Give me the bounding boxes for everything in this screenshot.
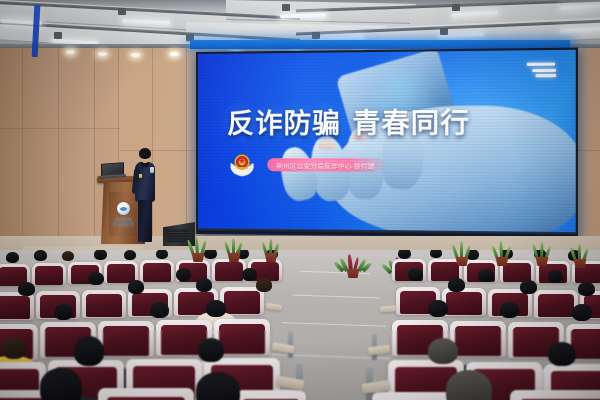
audience-head: [478, 269, 494, 282]
audience-head: [124, 250, 136, 260]
plant-pot: [534, 257, 550, 266]
seat-armrest-tablet[interactable]: [368, 345, 391, 356]
audience-head: [242, 268, 257, 281]
potted-plant: [452, 242, 472, 266]
institution-seal-logo-icon: [117, 202, 130, 215]
auditorium-seat[interactable]: [212, 259, 246, 281]
ceiling-mount-clip: [440, 28, 448, 35]
audience-head: [428, 300, 448, 317]
officer-chest-badge-icon: [139, 174, 142, 178]
audience-head: [196, 278, 212, 292]
auditorium-seat[interactable]: [140, 260, 174, 282]
presenter-police-officer: [133, 148, 157, 244]
audience-head: [150, 302, 169, 318]
potted-plant: [570, 244, 590, 268]
plant-leaf: [578, 244, 581, 261]
plant-leaf: [460, 241, 463, 259]
screen-headline: 反诈防骗青春同行: [227, 101, 470, 141]
ceiling-mount-clip: [312, 32, 320, 39]
audience-head: [572, 304, 592, 321]
audience-head-foreground: [446, 370, 492, 400]
seat-back-pad: [538, 294, 574, 318]
china-police-badge-icon: [229, 153, 255, 177]
presenter-credit-pill: 荆州区公安分局反诈中心 徐付瑞: [267, 158, 384, 172]
auditorium-seat[interactable]: [98, 321, 154, 357]
seat-armrest-tablet[interactable]: [380, 305, 396, 312]
plant-pot: [345, 269, 361, 278]
audience-head: [548, 270, 563, 283]
three-bars-motif-icon: [527, 63, 556, 80]
audience-head: [6, 252, 19, 263]
seat-back-pad: [455, 326, 501, 356]
ceiling-panel: [226, 0, 416, 24]
seat-back-pad: [224, 291, 260, 315]
potted-plant: [224, 238, 244, 262]
auditorium-seat[interactable]: [82, 290, 126, 318]
seat-armrest-tablet[interactable]: [266, 303, 283, 311]
potted-plant-bromeliad: [338, 246, 368, 278]
auditorium-seat[interactable]: [442, 288, 486, 316]
officer-shoulder-patch: [150, 167, 154, 173]
officer-hair-fringe: [140, 152, 151, 157]
audience-head: [578, 282, 595, 296]
seat-back-pad: [103, 326, 149, 356]
potted-plant: [532, 242, 552, 266]
auditorium-seat[interactable]: [220, 287, 264, 315]
seat-back-pad: [86, 294, 122, 318]
audience-head-foreground: [40, 368, 82, 400]
plant-pot: [572, 259, 588, 268]
audience-head: [54, 304, 73, 320]
plant-pot: [454, 257, 470, 266]
plant-leaf: [269, 239, 273, 255]
audience-head: [408, 268, 423, 281]
seat-back-pad: [446, 292, 482, 316]
audience-seating-area: [0, 250, 600, 400]
recessed-downlight: [98, 52, 107, 56]
floor-tile-line: [282, 322, 386, 327]
seat-back-pad: [215, 262, 243, 280]
seat-back-pad: [107, 264, 135, 282]
auditorium-seat-foreground[interactable]: [98, 388, 194, 400]
auditorium-seat[interactable]: [0, 292, 34, 320]
auditorium-photo: 反诈防骗青春同行 荆州区公安分局反诈中心 徐付瑞: [0, 0, 600, 400]
seat-back-pad: [35, 266, 63, 284]
presenter-laptop: [101, 163, 124, 178]
recessed-downlight: [131, 53, 140, 57]
plant-leaf: [540, 242, 544, 259]
ceiling-mount-clip: [282, 4, 290, 11]
seat-back-pad: [219, 324, 265, 354]
audience-head: [74, 336, 104, 366]
audience-head: [34, 250, 47, 261]
potted-plant: [262, 240, 280, 262]
recessed-downlight: [170, 52, 179, 56]
audience-head: [128, 280, 144, 294]
wall-seam: [22, 30, 23, 258]
auditorium-seat-foreground[interactable]: [510, 390, 600, 400]
audience-head: [88, 272, 104, 285]
audience-head: [520, 280, 537, 294]
audience-head: [198, 338, 224, 362]
plant-leaf: [499, 241, 503, 259]
auditorium-seat[interactable]: [32, 263, 66, 285]
ceiling-mount-clip: [118, 8, 126, 15]
wall-seam: [0, 128, 120, 129]
audience-head: [500, 302, 519, 318]
plant-pot: [494, 257, 510, 266]
auditorium-seat-foreground[interactable]: [236, 390, 306, 400]
ceiling-mount-clip: [452, 4, 460, 11]
wall-seam: [58, 30, 59, 258]
plant-leaf: [195, 236, 199, 255]
audience-head: [2, 338, 26, 359]
led-presentation-screen: 反诈防骗青春同行 荆州区公安分局反诈中心 徐付瑞: [196, 48, 578, 239]
potted-plant: [492, 242, 512, 266]
floor-tile-line: [292, 294, 380, 298]
audience-head: [398, 250, 411, 259]
plant-pot: [226, 253, 242, 262]
audience-head: [94, 250, 107, 260]
audience-head: [156, 250, 168, 259]
audience-head: [428, 338, 458, 364]
headline-part-1: 反诈防骗: [227, 108, 341, 139]
audience-head-foreground: [196, 372, 240, 400]
officer-legs: [138, 200, 152, 242]
plant-pot: [263, 253, 279, 262]
audience-head: [176, 268, 191, 281]
recessed-downlight: [66, 50, 75, 54]
potted-plant: [188, 236, 208, 262]
audience-head: [430, 250, 442, 258]
plant-pot: [190, 253, 206, 262]
audience-head: [548, 342, 576, 366]
ceiling-mount-clip: [54, 32, 62, 39]
audience-head: [206, 300, 226, 317]
audience-head: [62, 251, 74, 261]
seat-back-pad: [143, 263, 171, 281]
plant-leaf: [232, 238, 235, 255]
wall-seam: [120, 150, 196, 151]
auditorium-seat-foreground[interactable]: [372, 392, 456, 400]
audience-head: [18, 282, 35, 296]
auditorium-seat[interactable]: [450, 321, 506, 357]
seat-back-pad: [0, 296, 30, 320]
audience-head: [256, 278, 272, 292]
headline-part-2: 青春同行: [352, 108, 470, 139]
wall-seam: [94, 30, 95, 258]
audience-head: [448, 278, 465, 292]
